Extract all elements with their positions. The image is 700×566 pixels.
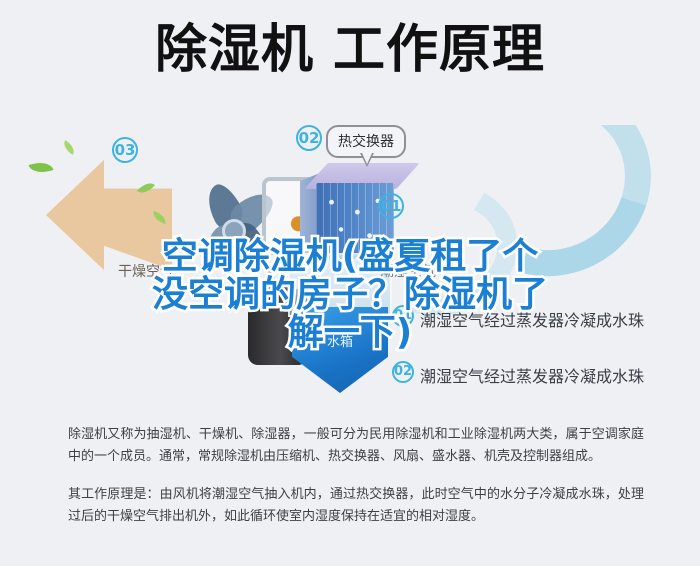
callout-tail-icon <box>360 153 374 167</box>
step-badge-02-top: 02 <box>296 125 322 151</box>
step-caption-01: 潮湿空气经过蒸发器冷凝成水珠 <box>420 307 644 331</box>
dry-air-label: 干燥空气 <box>118 261 174 281</box>
humid-air-label: 潮湿空气 <box>380 261 436 281</box>
water-tank-icon <box>292 307 388 393</box>
step-caption-02: 潮湿空气经过蒸发器冷凝成水珠 <box>420 363 644 387</box>
page-root: 除湿机 工作原理 水箱 03 02 <box>0 0 700 566</box>
body-paragraph-2: 其工作原理是：由风机将潮湿空气抽入机内，通过热交换器，此时空气中的水分子冷凝成水… <box>68 484 644 528</box>
leaf-icon <box>28 158 53 178</box>
fan-hub <box>222 219 246 243</box>
body-paragraph-1: 除湿机又称为抽湿机、干燥机、除湿器，一般可分为民用除湿机和工业除湿机两大类，属于… <box>68 424 644 468</box>
article-body: 除湿机又称为抽湿机、干燥机、除湿器，一般可分为民用除湿机和工业除湿机两大类，属于… <box>68 424 644 528</box>
water-tank-label: 水箱 <box>292 331 388 350</box>
page-title: 除湿机 工作原理 <box>155 18 545 82</box>
step-badge-01-caption: 01 <box>392 305 414 327</box>
step-badge-03-top: 03 <box>112 137 138 163</box>
dehumidifier-diagram: 水箱 03 02 01 热交换器 干燥空气 潮湿空气 01 潮湿空气经过蒸发器冷… <box>0 125 700 415</box>
step-badge-02-caption: 02 <box>392 361 414 383</box>
step-badge-01-top: 01 <box>378 193 404 219</box>
leaf-icon <box>61 140 78 155</box>
page-header: 除湿机 工作原理 <box>0 18 700 82</box>
